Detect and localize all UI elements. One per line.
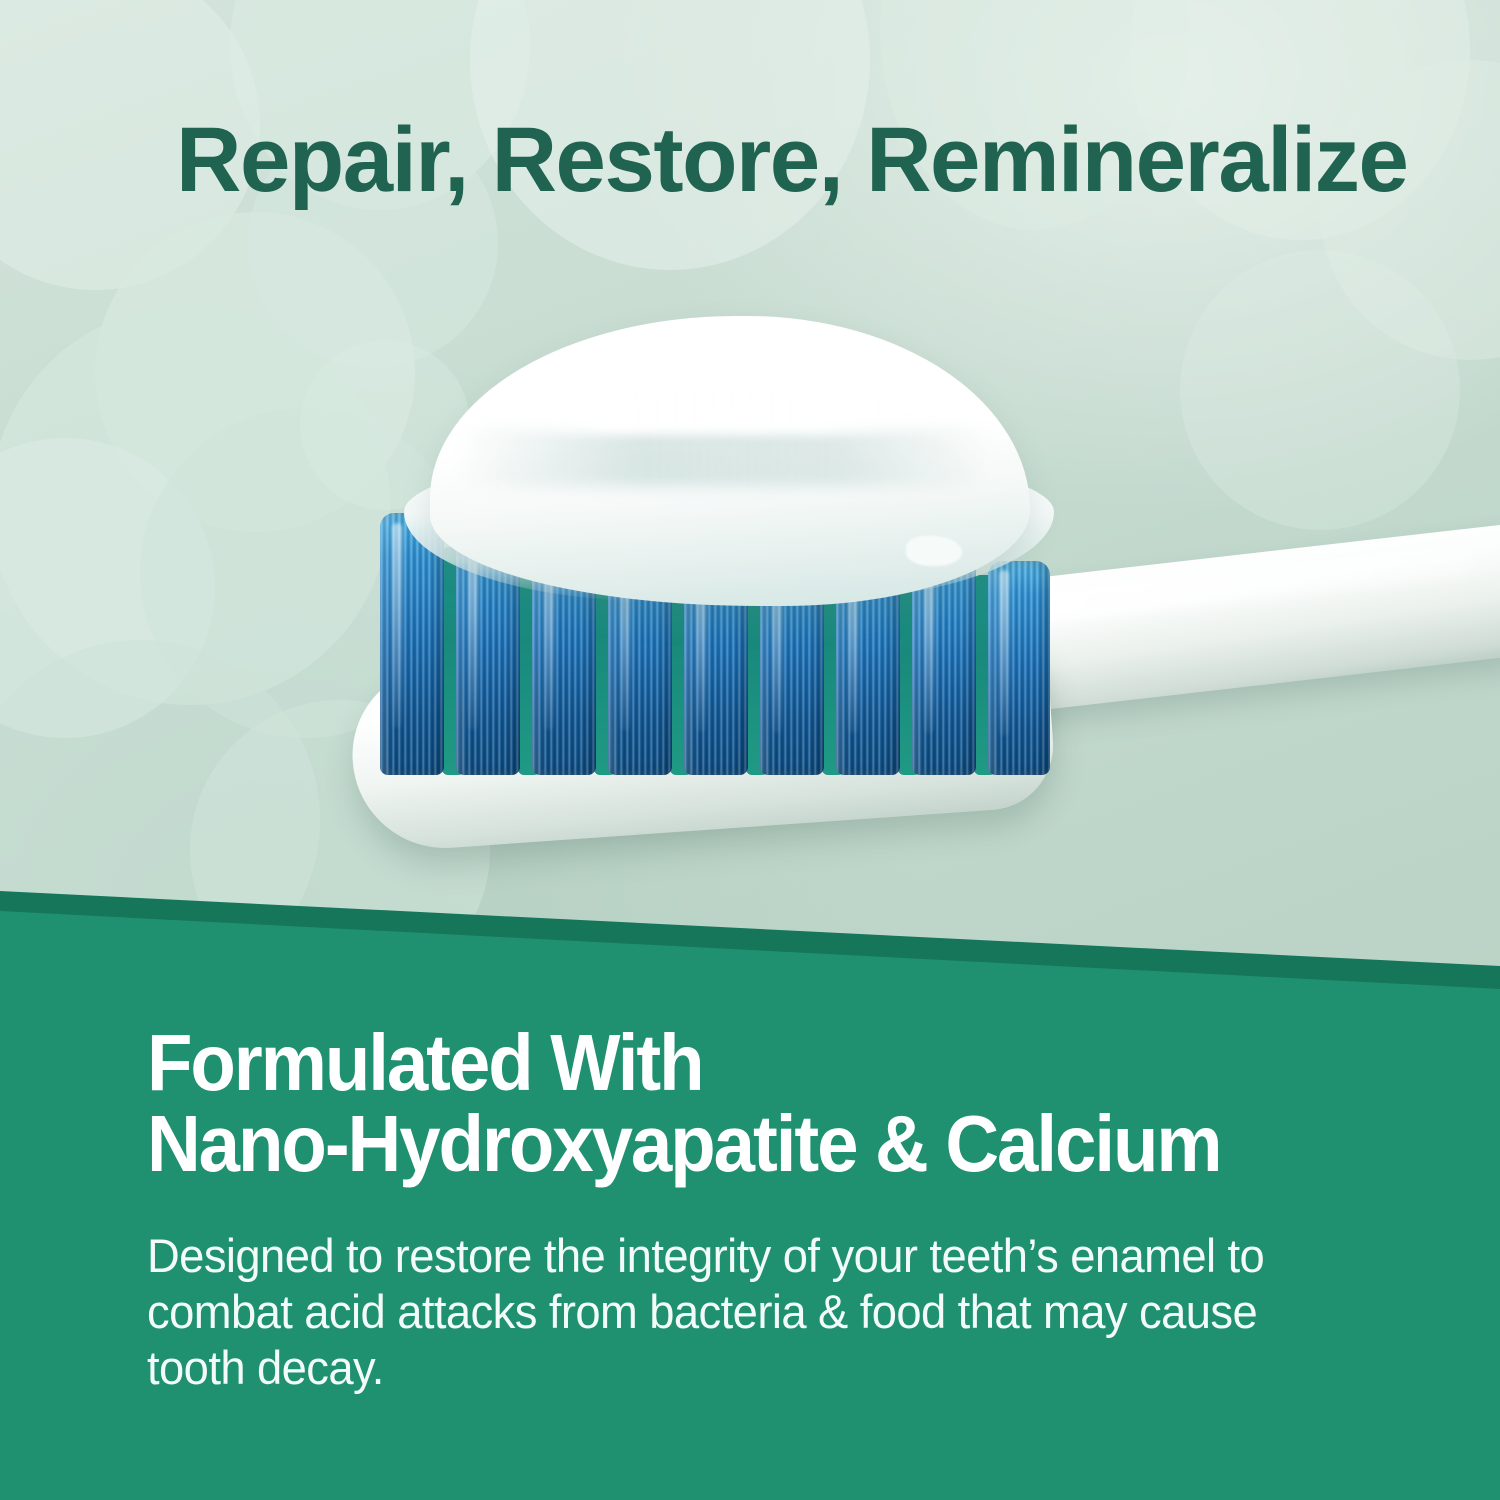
feature-body-text: Designed to restore the integrity of you… xyxy=(147,1228,1353,1396)
bokeh-circle xyxy=(0,305,390,705)
bristle-tuft xyxy=(380,513,444,775)
bokeh-circle xyxy=(140,408,470,738)
bristle-tuft xyxy=(608,531,672,775)
bristle-gap xyxy=(442,547,464,775)
toothpaste-blob xyxy=(430,316,1030,606)
toothpaste-speck xyxy=(906,536,962,566)
bristle-gap xyxy=(898,571,920,775)
bristle-tuft xyxy=(912,549,976,775)
handle-highlight xyxy=(914,544,1474,637)
bokeh-circle xyxy=(300,340,470,510)
toothpaste-skirt xyxy=(404,452,1054,602)
brush-handle xyxy=(873,524,1500,728)
page-title: Repair, Restore, Remineralize xyxy=(176,112,1358,208)
bristle-gap xyxy=(518,551,540,775)
feature-subheading: Formulated With Nano-Hydroxyapatite & Ca… xyxy=(147,1022,1375,1184)
bristle-field xyxy=(380,455,1060,775)
toothpaste-shading xyxy=(452,428,992,486)
bristle-gap xyxy=(746,563,768,775)
brush-drop-shadow xyxy=(369,764,991,855)
bristle-gap xyxy=(594,555,616,775)
bristle-tuft xyxy=(532,527,596,775)
brush-head xyxy=(347,624,1058,854)
feature-subheading-line-1: Formulated With xyxy=(147,1018,703,1107)
bokeh-circle xyxy=(1180,250,1460,530)
bristle-tuft xyxy=(684,535,748,775)
bristle-gap xyxy=(822,567,844,775)
toothpaste-highlight xyxy=(470,392,970,434)
bristle-gap xyxy=(974,575,996,775)
bristle-tuft xyxy=(836,543,900,775)
brush-neck xyxy=(794,616,1046,786)
product-feature-card: Repair, Restore, Remineralize Formulated… xyxy=(0,0,1500,1500)
feature-subheading-line-2: Nano-Hydroxyapatite & Calcium xyxy=(147,1103,1375,1184)
bristle-tuft xyxy=(760,539,824,775)
bokeh-circle xyxy=(0,438,215,738)
bristle-gap xyxy=(670,559,692,775)
bristle-tuft xyxy=(456,523,520,775)
bristle-tuft xyxy=(988,561,1050,775)
bokeh-circle xyxy=(95,212,415,532)
